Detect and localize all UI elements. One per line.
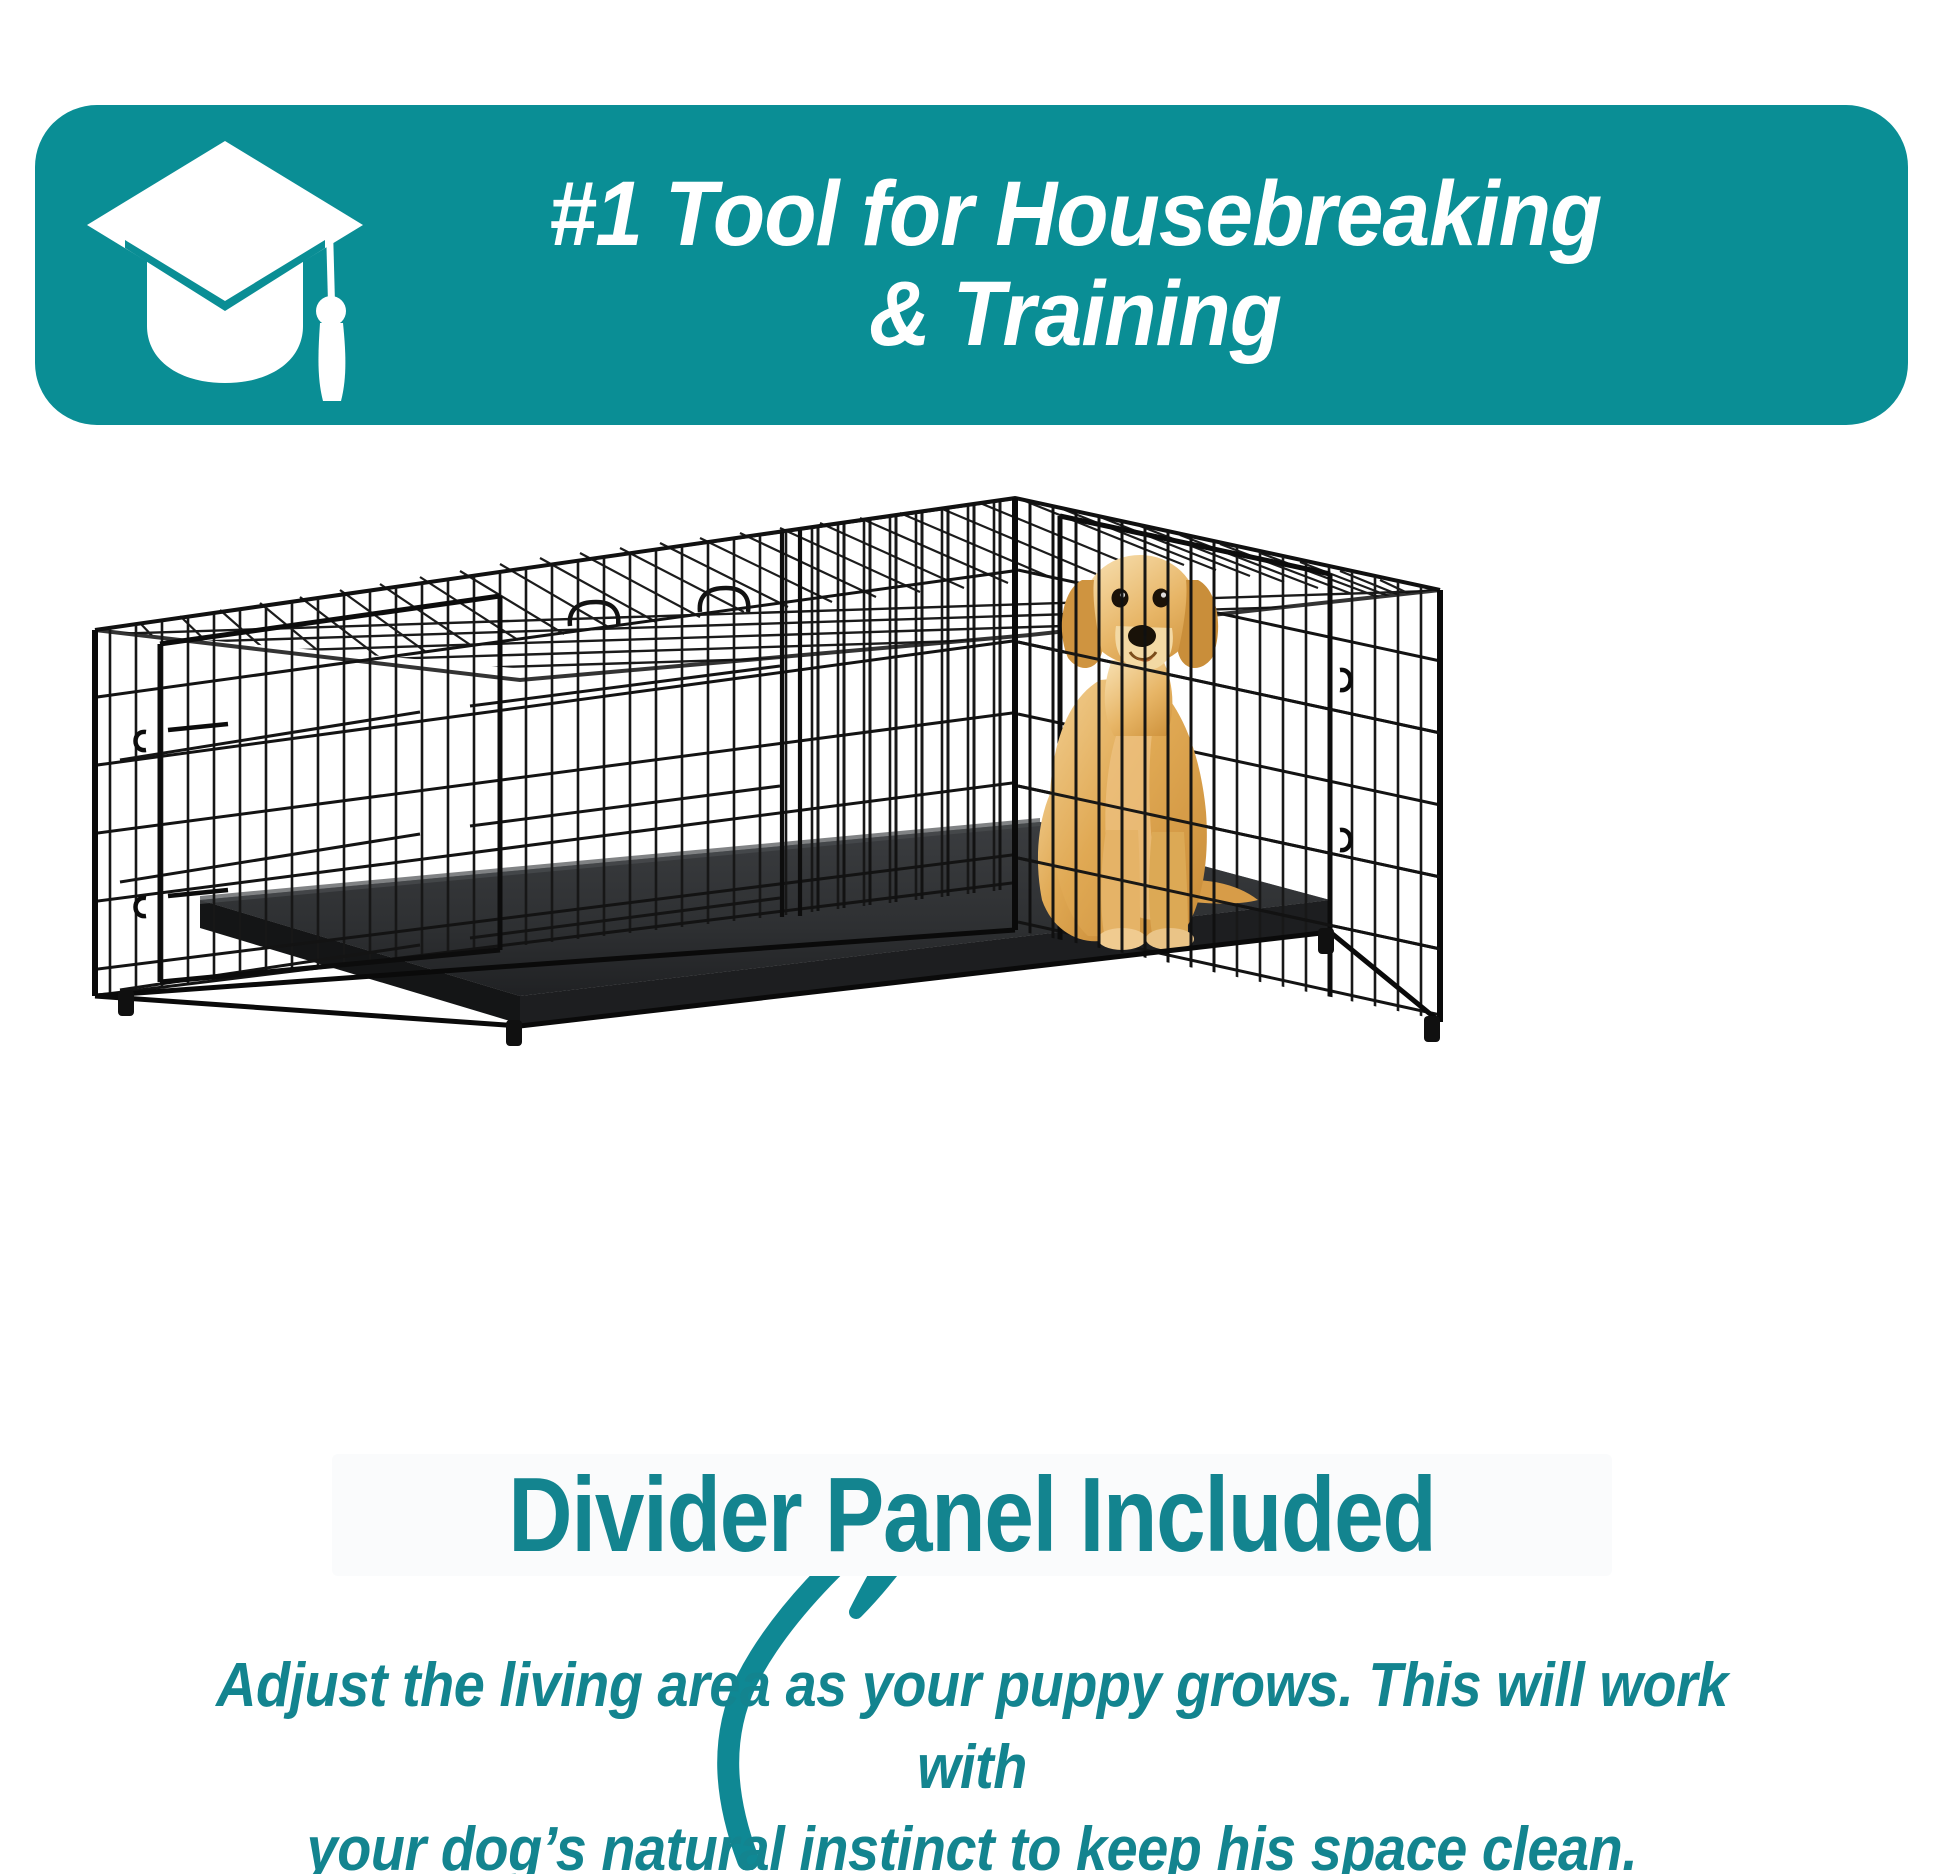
crate-side-latch xyxy=(1340,670,1351,850)
headline-line-2: & Training xyxy=(869,267,1281,363)
wire-dog-crate-illustration xyxy=(0,430,1944,1430)
body-line-2: your dog’s natural instinct to keep his … xyxy=(169,1809,1775,1874)
headline-banner: #1 Tool for Housebreaking & Training xyxy=(35,105,1908,425)
body-line-1: Adjust the living area as your puppy gro… xyxy=(169,1645,1775,1809)
subheading-area: Divider Panel Included xyxy=(0,1450,1944,1580)
product-photo xyxy=(0,430,1944,1430)
promo-image-root: #1 Tool for Housebreaking & Training xyxy=(0,0,1944,1874)
banner-headline: #1 Tool for Housebreaking & Training xyxy=(415,105,1736,425)
body-paragraph: Adjust the living area as your puppy gro… xyxy=(80,1645,1864,1874)
headline-line-1: #1 Tool for Housebreaking xyxy=(549,167,1602,263)
graduation-cap-icon xyxy=(85,133,365,403)
page-subheading: Divider Panel Included xyxy=(508,1462,1435,1568)
